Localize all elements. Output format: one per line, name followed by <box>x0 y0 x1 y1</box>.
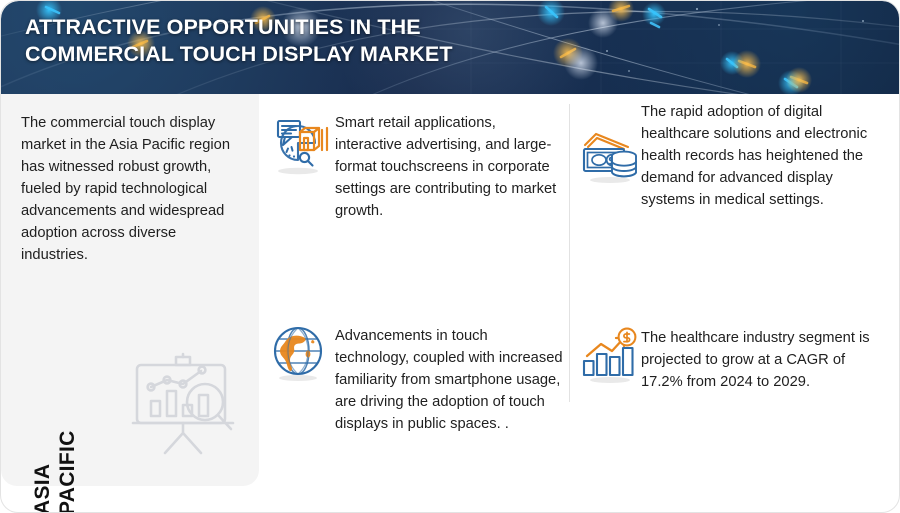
insight-text-healthcare-adoption: The rapid adoption of digital healthcare… <box>641 101 883 211</box>
insight-text-retail: Smart retail applications, interactive a… <box>335 112 560 222</box>
left-region-panel: The commercial touch display market in t… <box>1 94 259 486</box>
presentation-board-chart-magnifier-icon <box>127 349 242 464</box>
globe-icon <box>267 323 329 385</box>
page-title: ATTRACTIVE OPPORTUNITIES IN THE COMMERCI… <box>25 14 545 68</box>
region-label-line1: ASIA <box>31 464 54 513</box>
retail-analytics-icon <box>267 114 329 176</box>
left-panel-paragraph: The commercial touch display market in t… <box>21 112 231 266</box>
region-label: ASIA PACIFIC <box>30 395 80 513</box>
region-label-line2: PACIFIC <box>55 395 80 513</box>
growth-bar-chart-dollar-icon <box>579 327 641 389</box>
column-divider <box>569 104 570 402</box>
infographic-card: ATTRACTIVE OPPORTUNITIES IN THE COMMERCI… <box>0 0 900 513</box>
header-banner: ATTRACTIVE OPPORTUNITIES IN THE COMMERCI… <box>1 1 900 94</box>
insight-text-touch-technology: Advancements in touch technology, couple… <box>335 325 563 435</box>
page-title-line2: COMMERCIAL TOUCH DISPLAY MARKET <box>25 42 453 66</box>
money-banknote-coins-icon <box>579 125 641 187</box>
page-title-line1: ATTRACTIVE OPPORTUNITIES IN THE <box>25 15 421 39</box>
insight-text-cagr: The healthcare industry segment is proje… <box>641 327 879 393</box>
